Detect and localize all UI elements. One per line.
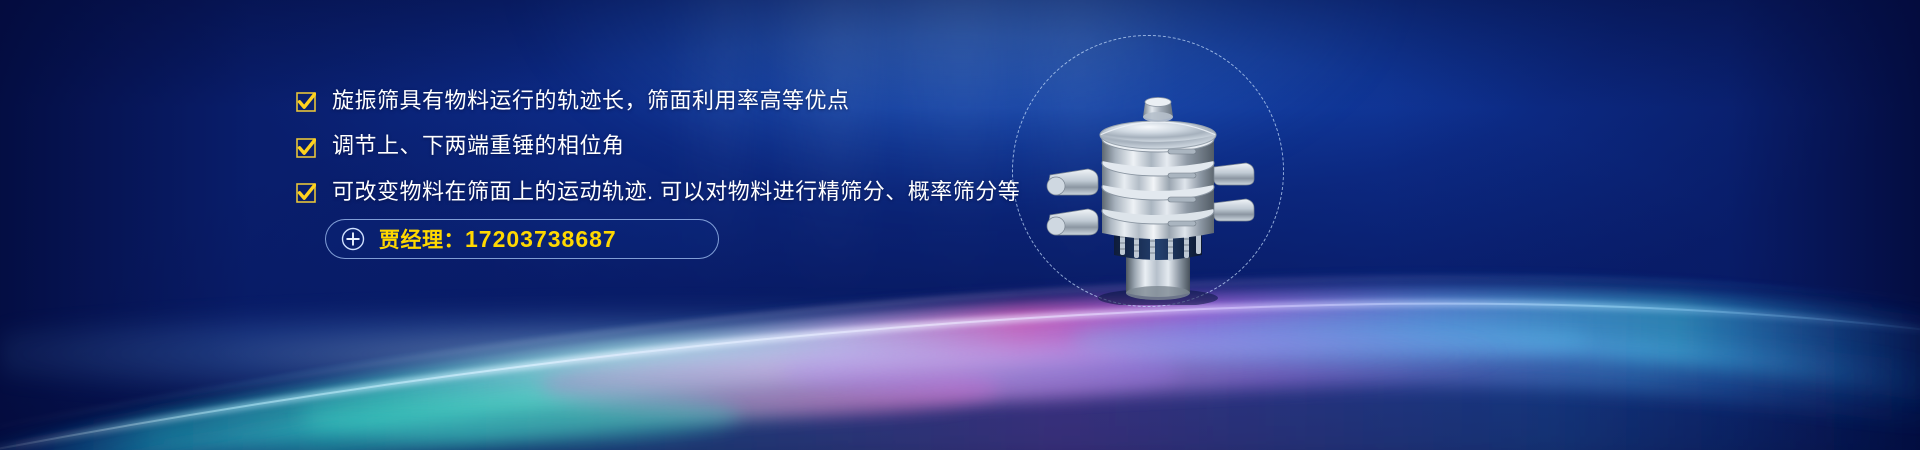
contact-phone-number: 17203738687 [465,226,617,253]
feature-text: 旋振筛具有物料运行的轨迹长，筛面利用率高等优点 [332,88,850,114]
rotary-vibrating-screen-image [1040,55,1270,305]
feature-text: 可改变物料在筛面上的运动轨迹. 可以对物料进行精筛分、概率筛分等 [332,179,1020,205]
plus-circle-icon [341,227,365,251]
feature-text: 调节上、下两端重锤的相位角 [332,133,625,159]
checkmark-icon [296,183,316,203]
list-item: 旋振筛具有物料运行的轨迹长，筛面利用率高等优点 [296,88,1056,114]
list-item: 调节上、下两端重锤的相位角 [296,133,1056,159]
machine-svg [1040,55,1270,305]
list-item: 可改变物料在筛面上的运动轨迹. 可以对物料进行精筛分、概率筛分等 [296,179,1056,205]
contact-name-label: 贾经理： [379,224,465,254]
feature-bullet-list: 旋振筛具有物料运行的轨迹长，筛面利用率高等优点 调节上、下两端重锤的相位角 [296,88,1056,205]
feature-list-container: 旋振筛具有物料运行的轨迹长，筛面利用率高等优点 调节上、下两端重锤的相位角 [296,88,1056,224]
ribbon-core-glow [0,282,1920,402]
contact-phone-button[interactable]: 贾经理： 17203738687 [325,219,719,259]
checkmark-icon [296,138,316,158]
checkmark-icon [296,92,316,112]
product-banner: 旋振筛具有物料运行的轨迹长，筛面利用率高等优点 调节上、下两端重锤的相位角 [0,0,1920,450]
